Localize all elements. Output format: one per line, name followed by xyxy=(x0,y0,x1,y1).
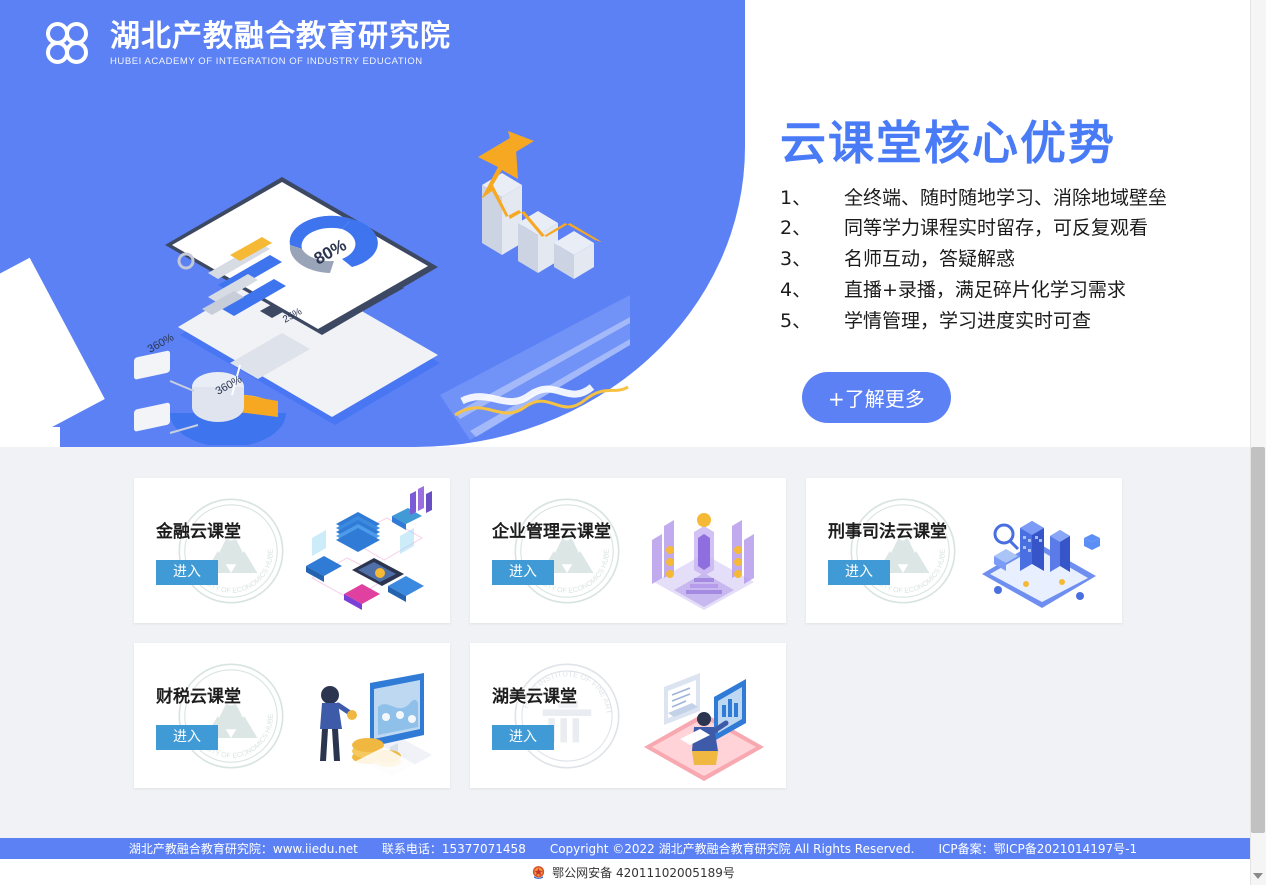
page-root: 湖北产教融合教育研究院 HUBEI ACADEMY OF INTEGRATION… xyxy=(0,0,1266,885)
course-card-enterprise-management[interactable]: UNIVERSITY OF ECONOMICS HUBEI 企业管理云课堂 进入 xyxy=(470,478,786,623)
list-item: 4、 直播+录播，满足碎片化学习需求 xyxy=(780,275,1230,306)
criminal-justice-city-illustration xyxy=(964,478,1114,623)
list-item: 2、 同等学力课程实时留存，可反复观看 xyxy=(780,213,1230,244)
page-scrollbar[interactable] xyxy=(1250,0,1266,885)
list-item-label: 同等学力课程实时留存，可反复观看 xyxy=(844,213,1148,244)
hero-banner: 湖北产教融合教育研究院 HUBEI ACADEMY OF INTEGRATION… xyxy=(0,0,1250,447)
enter-button[interactable]: 进入 xyxy=(492,725,554,750)
logo-name-cn: 湖北产教融合教育研究院 xyxy=(110,22,451,52)
list-item-number: 5、 xyxy=(780,306,844,337)
page-title: 云课堂核心优势 xyxy=(780,118,1230,169)
police-record-text: 鄂公网安备 42011102005189号 xyxy=(552,864,735,881)
footer-site[interactable]: 湖北产教融合教育研究院：www.iiedu.net xyxy=(129,840,358,857)
enter-button[interactable]: 进入 xyxy=(492,560,554,585)
footer-copyright: Copyright ©2022 湖北产教融合教育研究院 All Rights R… xyxy=(550,840,915,857)
course-card-section: UNIVERSITY OF ECONOMICS HUBEI 金融云课堂 进入 xyxy=(0,447,1250,832)
online-study-desk-illustration xyxy=(628,643,778,788)
course-card-fine-arts[interactable]: HUBEI INSTITUTE OF FINE ARTS 湖美云课堂 进入 xyxy=(470,643,786,788)
list-item-number: 3、 xyxy=(780,244,844,275)
four-circles-logo-icon xyxy=(46,22,98,66)
enter-button[interactable]: 进入 xyxy=(156,725,218,750)
hero-corner-notch xyxy=(0,427,60,447)
scrollbar-thumb[interactable] xyxy=(1251,447,1265,833)
enter-button[interactable]: 进入 xyxy=(828,560,890,585)
list-item-label: 直播+录播，满足碎片化学习需求 xyxy=(844,275,1126,306)
list-item-number: 2、 xyxy=(780,213,844,244)
list-item: 1、 全终端、随时随地学习、消除地域壁垒 xyxy=(780,183,1230,214)
site-logo[interactable]: 湖北产教融合教育研究院 HUBEI ACADEMY OF INTEGRATION… xyxy=(46,22,451,67)
list-item: 3、 名师互动，答疑解惑 xyxy=(780,244,1230,275)
svg-text:360%: 360% xyxy=(146,331,177,355)
card-title: 湖美云课堂 xyxy=(492,682,630,707)
footer-bar: 湖北产教融合教育研究院：www.iiedu.net 联系电话：153770714… xyxy=(0,838,1266,859)
list-item-number: 1、 xyxy=(780,183,844,214)
footer-police-record[interactable]: 鄂公网安备 42011102005189号 xyxy=(0,859,1266,885)
logo-name-en: HUBEI ACADEMY OF INTEGRATION OF INDUSTRY… xyxy=(110,57,451,67)
card-title: 企业管理云课堂 xyxy=(492,517,630,542)
course-card-grid: UNIVERSITY OF ECONOMICS HUBEI 金融云课堂 进入 xyxy=(134,478,1126,788)
card-title: 刑事司法云课堂 xyxy=(828,517,966,542)
enterprise-management-illustration xyxy=(628,478,778,623)
scroll-down-arrow-icon[interactable] xyxy=(1253,873,1263,879)
isometric-laptop-analytics-illustration: 80% 25% 360% 360% xyxy=(110,95,630,445)
police-badge-icon xyxy=(531,865,546,880)
card-title: 财税云课堂 xyxy=(156,682,294,707)
list-item: 5、 学情管理，学习进度实时可查 xyxy=(780,306,1230,337)
finance-servers-illustration xyxy=(292,478,442,623)
list-item-label: 学情管理，学习进度实时可查 xyxy=(844,306,1091,337)
course-card-finance[interactable]: UNIVERSITY OF ECONOMICS HUBEI 金融云课堂 进入 xyxy=(134,478,450,623)
course-card-criminal-justice[interactable]: UNIVERSITY OF ECONOMICS HUBEI 刑事司法云课堂 进入 xyxy=(806,478,1122,623)
advantage-list: 1、 全终端、随时随地学习、消除地域壁垒 2、 同等学力课程实时留存，可反复观看… xyxy=(780,183,1230,337)
course-card-tax[interactable]: UNIVERSITY OF ECONOMICS HUBEI 财税云课堂 进入 xyxy=(134,643,450,788)
learn-more-button[interactable]: +了解更多 xyxy=(802,372,951,423)
hero-copy: 云课堂核心优势 1、 全终端、随时随地学习、消除地域壁垒 2、 同等学力课程实时… xyxy=(780,118,1230,423)
list-item-label: 名师互动，答疑解惑 xyxy=(844,244,1015,275)
footer-icp[interactable]: ICP备案：鄂ICP备2021014197号-1 xyxy=(938,840,1137,857)
tax-coins-monitor-illustration xyxy=(292,643,442,788)
list-item-number: 4、 xyxy=(780,275,844,306)
card-title: 金融云课堂 xyxy=(156,517,294,542)
list-item-label: 全终端、随时随地学习、消除地域壁垒 xyxy=(844,183,1167,214)
enter-button[interactable]: 进入 xyxy=(156,560,218,585)
footer-phone: 联系电话：15377071458 xyxy=(382,840,526,857)
